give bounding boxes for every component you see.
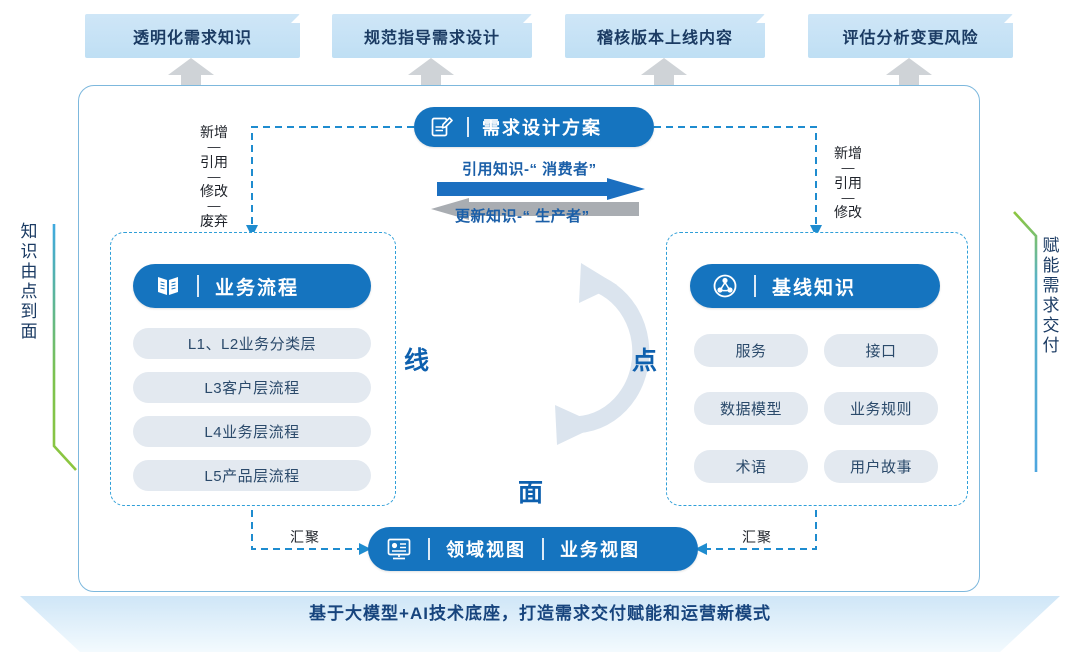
process-chip-1[interactable]: L1、L2业务分类层 <box>133 328 371 359</box>
knowledge-chip-4[interactable]: 业务规则 <box>824 392 938 425</box>
process-chip-4[interactable]: L5产品层流程 <box>133 460 371 491</box>
mutation-left-0: 新增 <box>200 124 228 140</box>
footer-caption: 基于大模型+AI技术底座，打造需求交付赋能和运营新模式 <box>0 599 1080 624</box>
mutation-separator: — <box>208 170 221 184</box>
design-plan-title: 需求设计方案 <box>482 114 602 140</box>
outcome-box-4[interactable]: 评估分析变更风险 <box>808 14 1013 58</box>
knowledge-chip-5[interactable]: 术语 <box>694 450 808 483</box>
view-pill-title-domain: 领域视图 <box>446 536 526 562</box>
knowledge-network-icon <box>712 274 738 298</box>
knowledge-chip-1-label: 服务 <box>735 340 766 361</box>
mutation-left-1: 引用 <box>200 154 228 170</box>
knowledge-chip-3[interactable]: 数据模型 <box>694 392 808 425</box>
view-pill-title-business: 业务视图 <box>560 536 640 562</box>
knowledge-chip-6-label: 用户故事 <box>850 456 912 477</box>
business-process-header[interactable]: 业务流程 <box>133 264 371 308</box>
pill-divider <box>467 117 469 137</box>
process-chip-1-label: L1、L2业务分类层 <box>188 333 316 354</box>
mutation-list-right: 新增 — 引用 — 修改 <box>834 145 862 220</box>
cycle-label-surface: 面 <box>518 473 544 509</box>
aggregate-label-right: 汇聚 <box>742 527 772 547</box>
footer-suffix: +AI技术底座，打造需求交付赋能和运营新模式 <box>399 604 771 623</box>
process-chip-2[interactable]: L3客户层流程 <box>133 372 371 403</box>
dashboard-board-icon <box>386 537 412 561</box>
right-side-label: 赋能需求交付 <box>1040 236 1062 356</box>
mutation-left-2: 修改 <box>200 183 228 199</box>
footer-prefix: 基于 <box>309 604 345 623</box>
business-process-title: 业务流程 <box>215 273 299 300</box>
knowledge-chip-3-label: 数据模型 <box>720 398 782 419</box>
knowledge-chip-4-label: 业务规则 <box>850 398 912 419</box>
document-edit-icon <box>430 115 454 139</box>
knowledge-chip-6[interactable]: 用户故事 <box>824 450 938 483</box>
footer-highlight: 大模型 <box>345 604 399 623</box>
process-chip-3[interactable]: L4业务层流程 <box>133 416 371 447</box>
mutation-separator: — <box>842 161 855 175</box>
outcome-box-2-label: 规范指导需求设计 <box>364 24 500 48</box>
mutation-right-0: 新增 <box>834 145 862 161</box>
mutation-left-3: 废弃 <box>200 213 228 229</box>
design-plan-pill[interactable]: 需求设计方案 <box>414 107 654 147</box>
pill-divider <box>754 275 756 297</box>
knowledge-chip-1[interactable]: 服务 <box>694 334 808 367</box>
process-chip-4-label: L5产品层流程 <box>204 465 299 486</box>
left-side-label: 知识由点到面 <box>18 222 40 342</box>
baseline-knowledge-header[interactable]: 基线知识 <box>690 264 940 308</box>
process-book-icon <box>155 274 181 298</box>
view-pill[interactable]: 领域视图 业务视图 <box>368 527 698 571</box>
outcome-box-1[interactable]: 透明化需求知识 <box>85 14 300 58</box>
mutation-right-1: 引用 <box>834 175 862 191</box>
outcome-box-3[interactable]: 稽核版本上线内容 <box>565 14 765 58</box>
outcome-box-1-label: 透明化需求知识 <box>133 24 252 48</box>
outcome-box-3-label: 稽核版本上线内容 <box>597 24 733 48</box>
mutation-right-2: 修改 <box>834 204 862 220</box>
outcome-box-4-label: 评估分析变更风险 <box>842 24 978 48</box>
aggregate-label-left: 汇聚 <box>290 527 320 547</box>
produce-label: 更新知识-“ 生产者” <box>455 205 590 226</box>
process-chip-3-label: L4业务层流程 <box>204 421 299 442</box>
right-bracket-line <box>1012 210 1040 477</box>
knowledge-chip-2-label: 接口 <box>865 340 896 361</box>
consume-label: 引用知识-“ 消费者” <box>462 158 597 179</box>
cycle-label-point: 点 <box>632 341 658 377</box>
mutation-separator: — <box>842 191 855 205</box>
diagram-canvas: 透明化需求知识 规范指导需求设计 稽核版本上线内容 评估分析变更风险 <box>0 0 1080 664</box>
mutation-separator: — <box>208 199 221 213</box>
pill-divider <box>197 275 199 297</box>
outcome-box-2[interactable]: 规范指导需求设计 <box>332 14 532 58</box>
process-chip-2-label: L3客户层流程 <box>204 377 299 398</box>
pill-divider <box>542 538 544 560</box>
pill-divider <box>428 538 430 560</box>
cycle-label-line: 线 <box>404 341 430 377</box>
mutation-list-left: 新增 — 引用 — 修改 — 废弃 <box>200 124 228 229</box>
knowledge-chip-2[interactable]: 接口 <box>824 334 938 367</box>
knowledge-chip-5-label: 术语 <box>735 456 766 477</box>
baseline-knowledge-title: 基线知识 <box>772 273 856 300</box>
left-bracket-line <box>50 224 78 479</box>
mutation-separator: — <box>208 140 221 154</box>
